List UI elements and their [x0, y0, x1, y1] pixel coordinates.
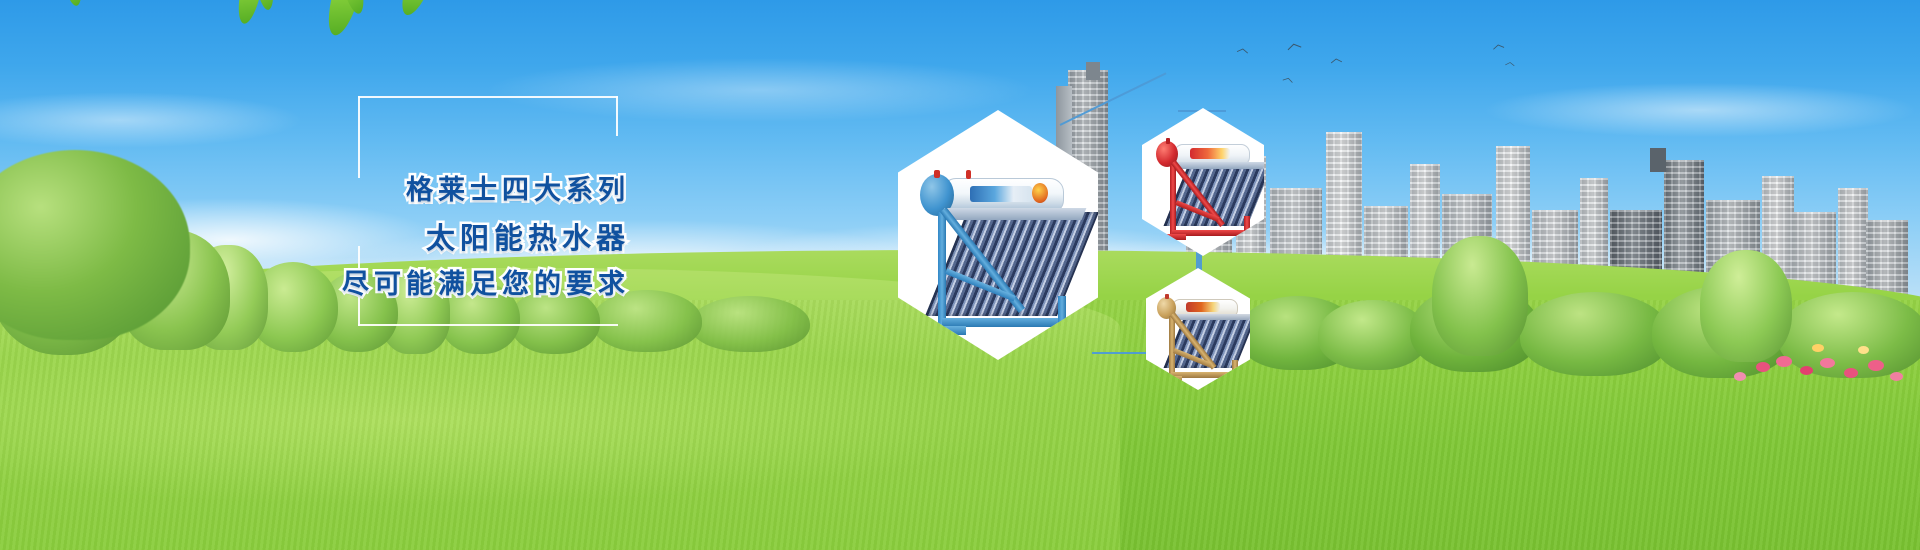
headline-block: 格莱士四大系列 太阳能热水器 尽可能满足您的要求 — [330, 168, 630, 308]
bird-icon: ︿ — [1236, 41, 1250, 55]
flower — [1868, 360, 1884, 371]
frame-line-left-upper — [358, 96, 360, 178]
frame-line-right — [616, 96, 618, 136]
headline-line-1: 格莱士四大系列 — [330, 168, 630, 214]
flower — [1812, 344, 1824, 352]
flower — [1820, 358, 1835, 368]
flower — [1890, 372, 1903, 381]
leaf-icon — [256, 0, 276, 11]
brand-label — [1186, 302, 1220, 312]
shrub — [1520, 292, 1670, 376]
tree — [1700, 250, 1792, 362]
flower — [1858, 346, 1869, 354]
flower — [1734, 372, 1746, 381]
tree — [1432, 236, 1528, 356]
bird-icon: ︿ — [1285, 35, 1303, 53]
promo-banner: ︿ ︿ ︿ ︿ ︿ ︿ — [0, 0, 1920, 550]
leaf-icon — [396, 0, 430, 19]
headline-line-3: 尽可能满足您的要求 — [330, 262, 630, 308]
brand-label — [970, 186, 1032, 202]
shrub — [1778, 292, 1920, 378]
brand-mascot-icon — [1032, 183, 1048, 203]
leaf-icon — [234, 0, 262, 26]
flower — [1844, 368, 1858, 378]
tree — [0, 150, 190, 340]
tree — [690, 296, 810, 352]
brand-label — [1190, 148, 1230, 159]
headline-line-2: 太阳能热水器 — [330, 214, 630, 262]
bird-icon: ︿ — [1491, 37, 1505, 51]
flower — [1756, 362, 1770, 372]
frame-line-top — [358, 96, 618, 98]
flower — [1800, 366, 1813, 375]
leaf-icon — [64, 0, 85, 7]
flower — [1776, 356, 1792, 367]
